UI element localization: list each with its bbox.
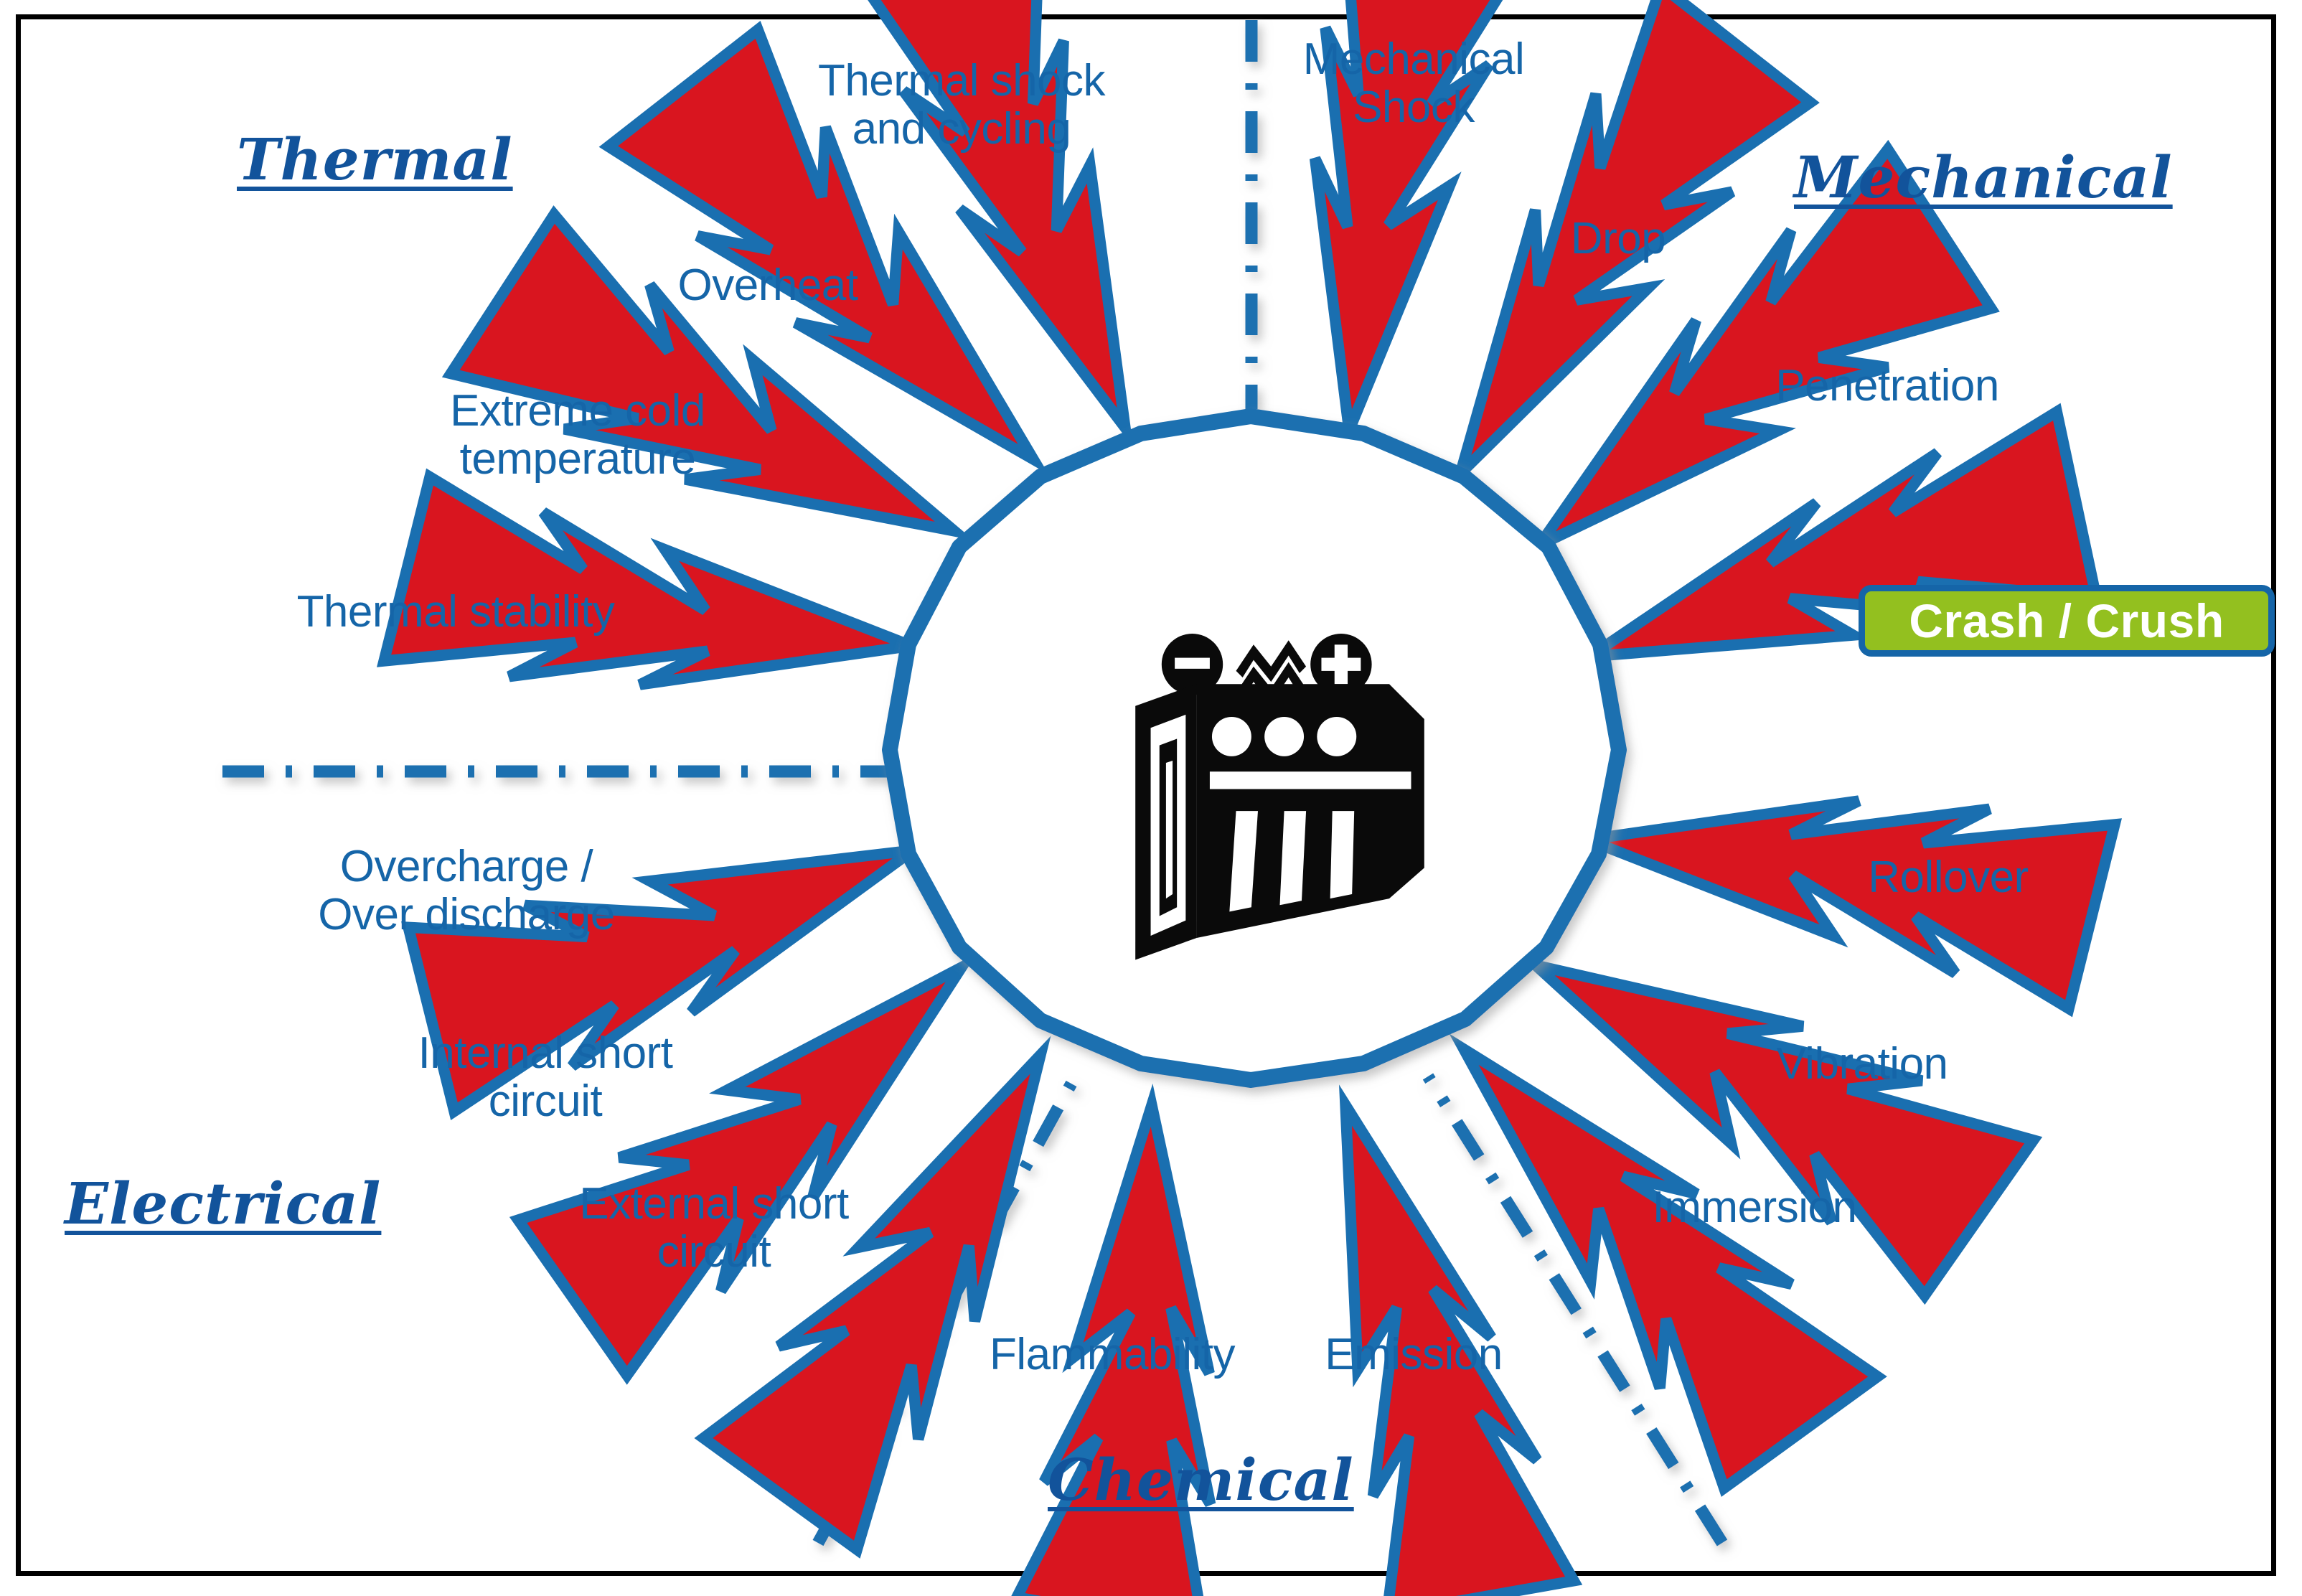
hazard-label-vibration: Vibration [1740,1041,1984,1089]
category-label-mechanical: Mechanical [1794,144,2173,211]
hazard-label-external-short-circuit: External short circuit [535,1180,893,1277]
hazard-label-overcharge-over-discharge: Overcharge / Over discharge [273,843,660,939]
hazard-label-flammability: Flammability [954,1331,1270,1379]
diagram-canvas: Thermal Mechanical Electrical Chemical T… [0,0,2302,1596]
crash-crush-badge[interactable]: Crash / Crush [1859,585,2275,657]
hazard-label-drop: Drop [1528,215,1708,263]
category-label-thermal: Thermal [237,126,513,193]
hazard-label-internal-short-circuit: Internal short circuit [373,1030,718,1126]
hazard-label-emission: Emission [1292,1331,1536,1379]
category-label-chemical: Chemical [1048,1446,1354,1513]
crash-crush-badge-label: Crash / Crush [1909,593,2224,648]
hazard-label-penetration: Penetration [1737,362,2038,410]
hazard-label-rollover: Rollover [1837,854,2059,902]
hazard-label-mechanical-shock: Mechanical Shock [1252,36,1575,132]
category-label-electrical: Electrical [65,1170,381,1237]
hazard-label-immersion: Immersion [1615,1184,1894,1232]
hazard-label-overheat: Overheat [646,262,890,310]
hazard-label-thermal-stability: Thermal stability [251,588,660,637]
hazard-label-extreme-cold-temperature: Extreme cold temperature [409,388,746,484]
hazard-label-thermal-shock-and-cycling: Thermal shock and cycling [761,57,1162,154]
